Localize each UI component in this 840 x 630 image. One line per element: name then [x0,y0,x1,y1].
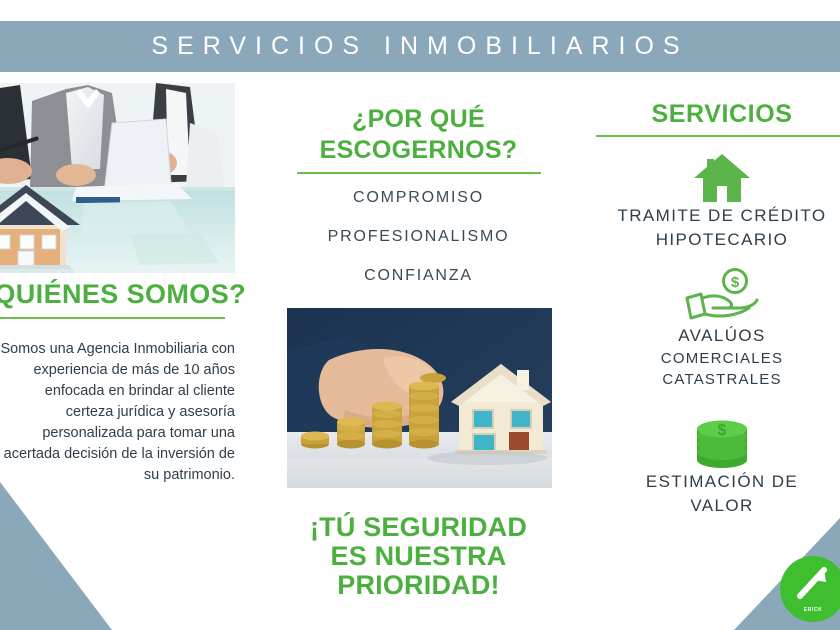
value-item-compromiso: COMPROMISO [276,189,561,207]
hand-coin-icon: $ [596,268,840,324]
why-choose-divider [297,172,541,174]
svg-text:$: $ [731,274,740,291]
tagline: ¡TÚ SEGURIDAD ES NUESTRA PRIORIDAD! [276,513,561,600]
coin-stack-icon: $ [596,414,840,470]
meeting-photo [0,83,235,273]
coins-house-photo [287,308,552,488]
values-list: COMPROMISO PROFESIONALISMO CONFIANZA [276,189,561,306]
service-sub-line1: COMERCIALES [596,348,840,369]
svg-text:$: $ [718,422,727,439]
services-heading: SERVICIOS [596,100,840,129]
value-item-confianza: CONFIANZA [276,267,561,285]
page-title: SERVICIOS INMOBILIARIOS [151,32,688,61]
services-divider [596,135,840,137]
about-divider [0,317,225,319]
corner-wedge-bottom-left [0,482,112,630]
logo-text: ERICK [780,607,840,613]
service-title-line1: TRAMITE DE CRÉDITO [596,204,840,228]
service-item-credito: TRAMITE DE CRÉDITO HIPOTECARIO [596,152,840,252]
service-title-line1: ESTIMACIÓN DE [596,470,840,494]
service-sub-line2: CATASTRALES [596,369,840,390]
service-title-line2: VALOR [596,494,840,518]
service-title-line2: HIPOTECARIO [596,228,840,252]
about-body: Somos una Agencia Inmobiliaria con exper… [0,339,235,486]
header-banner: SERVICIOS INMOBILIARIOS [0,21,840,72]
service-item-estimacion: $ ESTIMACIÓN DE VALOR [596,414,840,518]
tagline-line2: ES NUESTRA [276,542,561,571]
service-title-line1: AVALÚOS [596,324,840,348]
why-choose-heading-line1: ¿POR QUÉ [276,104,561,135]
tagline-line3: PRIORIDAD! [276,571,561,600]
poster-canvas: SERVICIOS INMOBILIARIOS [0,0,840,630]
why-choose-heading-line2: ESCOGERNOS? [276,135,561,166]
logo-badge: ERICK [780,556,840,622]
about-heading: ¿QUIÉNES SOMOS? [0,279,246,310]
service-item-avaluos: $ AVALÚOS COMERCIALES CATASTRALES [596,268,840,390]
value-item-profesionalismo: PROFESIONALISMO [276,228,561,246]
tagline-line1: ¡TÚ SEGURIDAD [276,513,561,542]
house-icon [596,152,840,204]
why-choose-heading: ¿POR QUÉ ESCOGERNOS? [276,104,561,166]
